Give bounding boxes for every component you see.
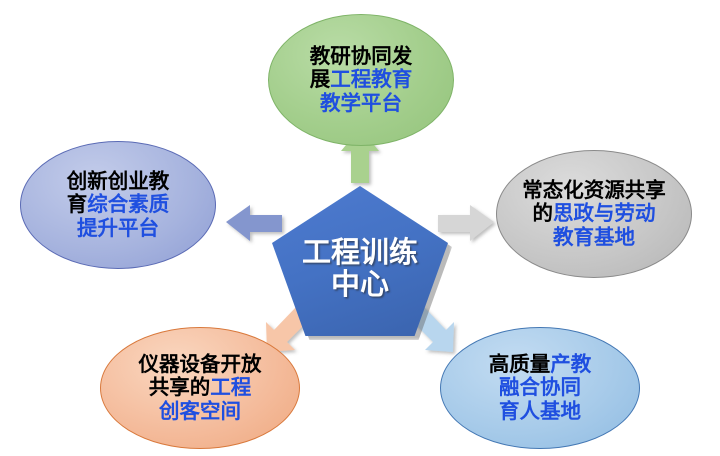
node-bottom-right-line-3: 育人基地 [489,400,592,423]
node-top-line-2: 展工程教育 [310,68,413,91]
node-right-line3-seg1: 教育基地 [553,226,635,249]
node-top-line-3: 教学平台 [310,92,413,115]
node-right-ellipse[interactable]: 常态化资源共享 的思政与劳动 教育基地 [496,150,692,278]
node-bottom-left-line3-seg1: 创客空间 [159,400,241,423]
node-left-line-3: 提升平台 [67,217,170,240]
center-label-line-2: 中心 [272,269,448,301]
node-bottom-right-line2-seg1: 融合协同 [499,376,581,399]
node-top-label: 教研协同发 展工程教育 教学平台 [310,45,413,115]
node-right-line2-seg2: 思政与劳动 [553,202,656,225]
node-bottom-left-label: 仪器设备开放 共享的工程 创客空间 [139,353,262,423]
node-bottom-left-line-3: 创客空间 [139,400,262,423]
node-top-line2-seg2: 工程教育 [330,68,412,91]
node-left-line1-seg1: 创新创业教 [67,170,170,193]
node-top-line2-seg1: 展 [310,68,331,91]
node-bottom-right-label: 高质量产教 融合协同 育人基地 [489,353,592,423]
node-right-line1-seg1: 常态化资源共享 [522,179,666,202]
node-top-line-1: 教研协同发 [310,45,413,68]
node-top-line1-seg1: 教研协同发 [310,45,413,68]
node-bottom-right-line-1: 高质量产教 [489,353,592,376]
center-label-line-1: 工程训练 [272,237,448,269]
node-left-line3-seg1: 提升平台 [77,217,159,240]
node-left-label: 创新创业教 育综合素质 提升平台 [67,170,170,240]
node-bottom-left-ellipse[interactable]: 仪器设备开放 共享的工程 创客空间 [100,327,300,449]
center-pentagon[interactable]: 工程训练 中心 [272,186,448,336]
node-right-line-2: 的思政与劳动 [522,202,666,225]
node-bottom-right-ellipse[interactable]: 高质量产教 融合协同 育人基地 [440,327,640,449]
diagram-canvas: 教研协同发 展工程教育 教学平台 创新创业教 育综合素质 提升平台 [0,0,720,456]
node-bottom-left-line2-seg2: 工程 [210,376,251,399]
node-bottom-left-line-1: 仪器设备开放 [139,353,262,376]
node-right-line2-seg1: 的 [533,202,554,225]
node-bottom-right-line1-seg1: 高质量 [489,353,551,376]
node-top-line3-seg1: 教学平台 [320,92,402,115]
node-bottom-left-line2-seg1: 共享的 [149,376,211,399]
node-top-ellipse[interactable]: 教研协同发 展工程教育 教学平台 [268,14,454,146]
node-right-line-3: 教育基地 [522,226,666,249]
node-left-line-2: 育综合素质 [67,193,170,216]
node-left-line2-seg1: 育 [67,193,88,216]
node-bottom-right-line3-seg1: 育人基地 [499,400,581,423]
node-bottom-left-line-2: 共享的工程 [139,376,262,399]
center-pentagon-label: 工程训练 中心 [272,237,448,302]
node-right-line-1: 常态化资源共享 [522,179,666,202]
node-left-ellipse[interactable]: 创新创业教 育综合素质 提升平台 [20,141,216,269]
node-left-line2-seg2: 综合素质 [87,193,169,216]
node-bottom-right-line-2: 融合协同 [489,376,592,399]
node-right-label: 常态化资源共享 的思政与劳动 教育基地 [522,179,666,249]
node-left-line-1: 创新创业教 [67,170,170,193]
node-bottom-right-line1-seg2: 产教 [550,353,591,376]
node-bottom-left-line1-seg1: 仪器设备开放 [139,353,262,376]
